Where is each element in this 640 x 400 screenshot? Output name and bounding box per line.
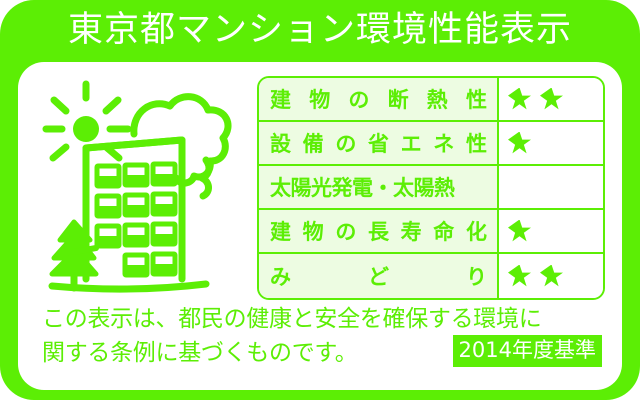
header-band: 東京都マンション環境性能表示	[0, 0, 640, 62]
star-icon	[540, 265, 563, 288]
rating-label-insulation: 建 物 の 断 熱 性	[259, 78, 499, 120]
table-row: 太陽光発電・太陽熱	[259, 166, 603, 210]
ground-line	[52, 284, 206, 289]
table-row: 建 物 の 断 熱 性	[259, 78, 603, 122]
rating-stars-solar	[499, 166, 603, 208]
rating-stars-longevity	[499, 210, 603, 252]
star-icon	[508, 132, 531, 155]
content-card: 建 物 の 断 熱 性 設 備 の 省 エ	[18, 62, 622, 390]
star-icon	[540, 88, 563, 111]
rating-label-greenery: み ど り	[259, 254, 499, 298]
rating-label-solar: 太陽光発電・太陽熱	[259, 166, 499, 208]
illustration-svg	[30, 72, 262, 300]
rating-stars-greenery	[499, 254, 603, 298]
footer-line-1: この表示は、都民の健康と安全を確保する環境に	[42, 305, 602, 334]
star-icon	[508, 88, 531, 111]
page-title: 東京都マンション環境性能表示	[68, 13, 572, 48]
eco-apartment-illustration	[30, 72, 262, 300]
table-row: 設 備 の 省 エ ネ 性	[259, 122, 603, 166]
footer-line-2: 関する条例に基づくものです。	[42, 339, 358, 368]
table-row: 建 物 の 長 寿 命 化	[259, 210, 603, 254]
apartment-building-icon	[86, 140, 182, 279]
rating-stars-insulation	[499, 78, 603, 120]
star-icon	[508, 220, 531, 243]
rating-label-longevity: 建 物 の 長 寿 命 化	[259, 210, 499, 252]
environmental-performance-ratings: 建 物 の 断 熱 性 設 備 の 省 エ	[257, 76, 605, 300]
year-standard-badge: 2014年度基準	[453, 335, 602, 367]
footer-line-2-row: 関する条例に基づくものです。 2014年度基準	[42, 335, 602, 368]
tokyo-mansion-environmental-performance-label: 東京都マンション環境性能表示	[0, 0, 640, 400]
footer: この表示は、都民の健康と安全を確保する環境に 関する条例に基づくものです。 20…	[42, 305, 602, 381]
table-row: み ど り	[259, 254, 603, 298]
rating-stars-energy-saving	[499, 122, 603, 164]
rating-label-energy-saving: 設 備 の 省 エ ネ 性	[259, 122, 499, 164]
star-icon	[508, 265, 531, 288]
